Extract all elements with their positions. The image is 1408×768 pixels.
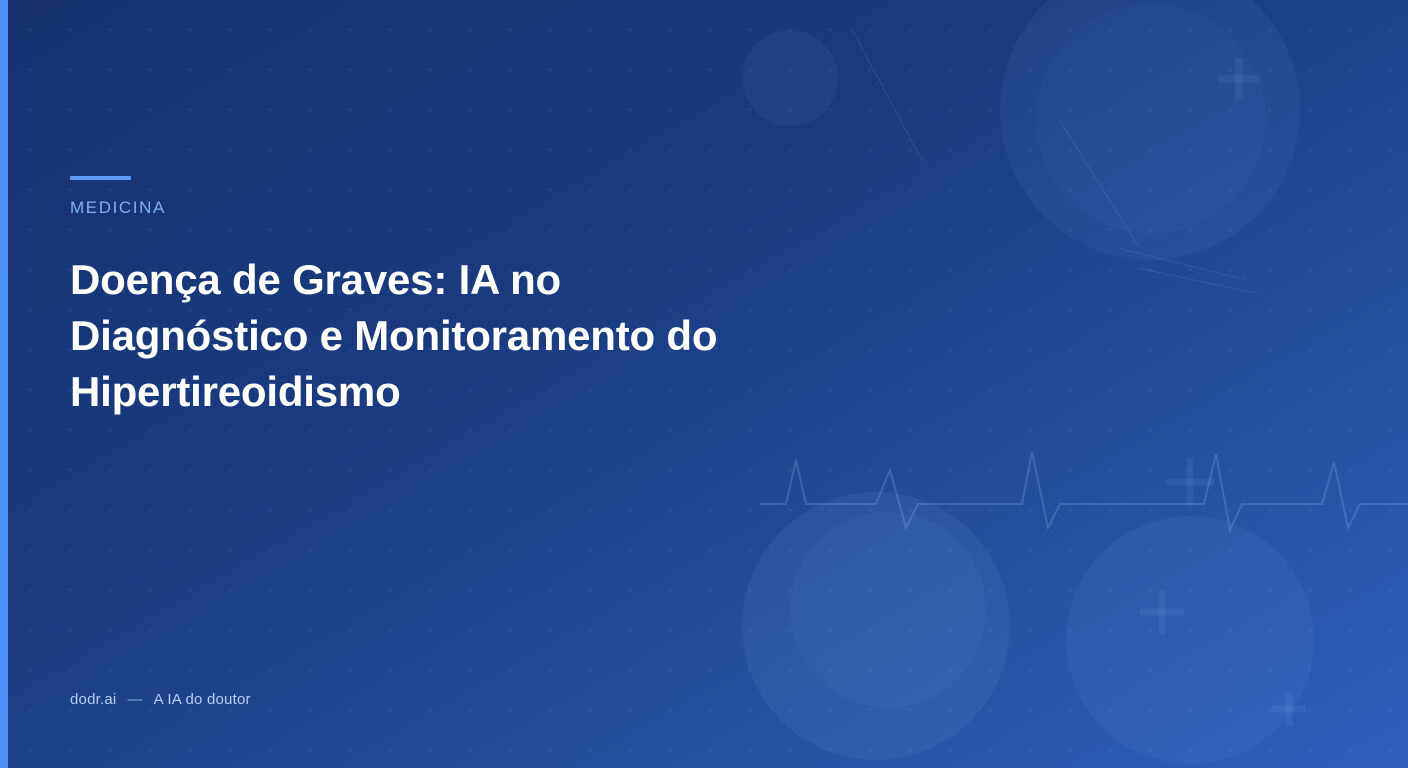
decorative-circle-bottom-right [1066,516,1314,764]
left-edge-accent-bar [0,0,8,768]
kicker-rule [70,176,131,180]
medical-cross-icon-3 [1140,590,1184,634]
cover-slide: MEDICINA Doença de Graves: IA no Diagnós… [0,0,1408,768]
decorative-circle-top-large [1000,0,1300,260]
diagonal-line-3 [1120,248,1246,280]
medical-cross-icon-2 [1166,458,1214,506]
footer: dodr.ai — A IA do doutor [70,691,251,708]
category-label: MEDICINA [70,198,166,218]
slide-content: MEDICINA Doença de Graves: IA no Diagnós… [70,0,850,768]
brand-name: dodr.ai [70,691,116,708]
diagonal-line-2 [1059,120,1139,248]
ecg-waveform-icon [760,432,1408,542]
medical-cross-icon-1 [1218,58,1260,100]
diagonal-line-1 [851,28,922,161]
page-title: Doença de Graves: IA no Diagnóstico e Mo… [70,252,810,420]
footer-separator: — [127,691,142,708]
decorative-circle-top-inner [1036,4,1266,234]
diagonal-line-4 [1140,268,1258,294]
medical-cross-icon-4 [1272,692,1306,726]
brand-tagline: A IA do doutor [154,691,251,708]
